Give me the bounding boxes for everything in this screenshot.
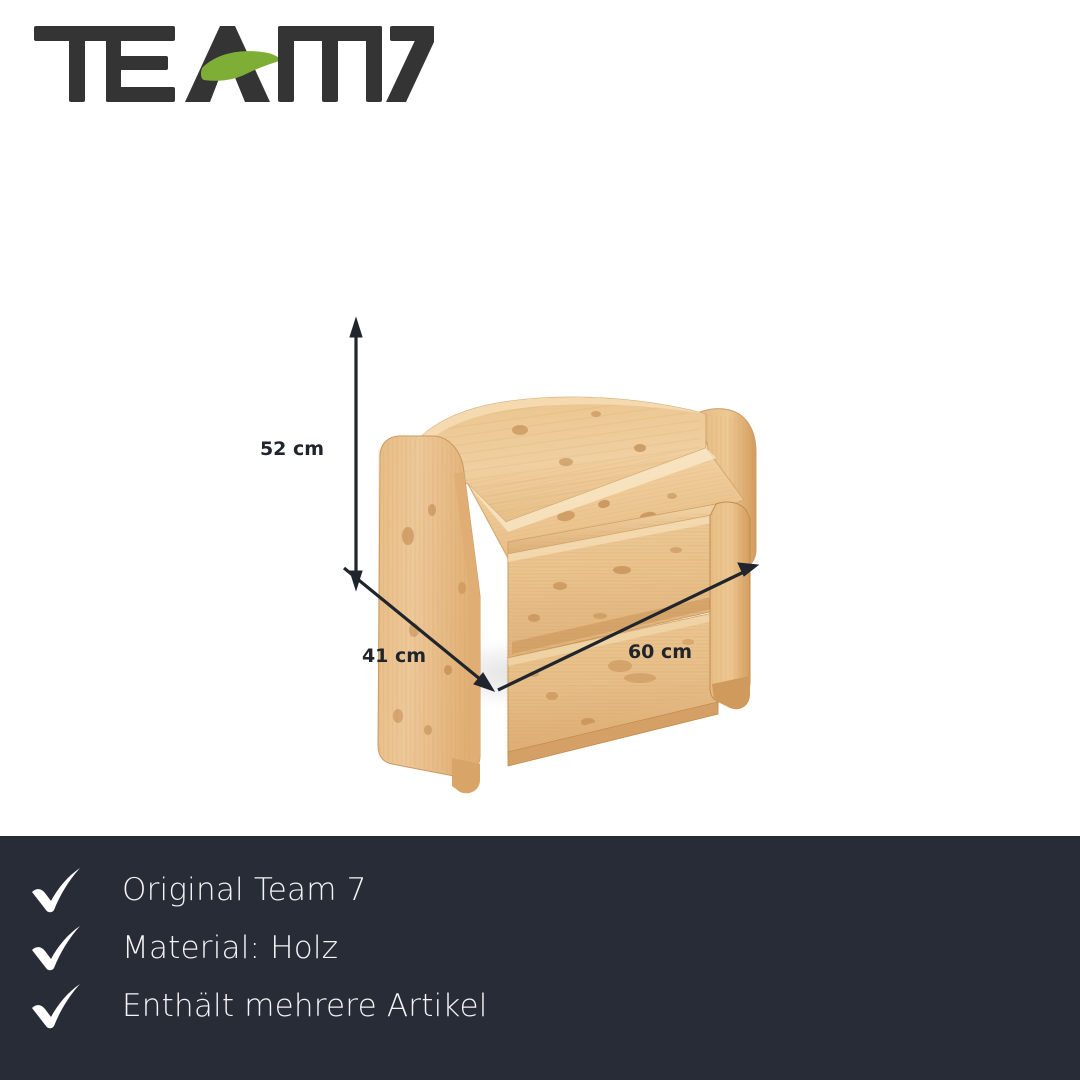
feature-label: Enthält mehrere Artikel — [122, 991, 488, 1022]
feature-label: Original Team 7 — [122, 875, 367, 906]
checkmark-icon — [28, 866, 84, 914]
product-listing-card: 52 cm 41 cm 60 cm Original Team 7 — [0, 0, 1080, 1080]
brand-logo — [34, 16, 434, 104]
feature-list: Original Team 7 Material: Holz Enthält m… — [0, 836, 1080, 1080]
list-item: Enthält mehrere Artikel — [0, 982, 1080, 1030]
height-dimension-label: 52 cm — [260, 438, 324, 460]
right-front-post-grain — [710, 502, 752, 702]
logo-letter-M — [278, 26, 382, 102]
product-illustration — [370, 388, 770, 793]
height-dimension-line — [350, 318, 362, 590]
checkmark-icon — [28, 982, 84, 1030]
logo-numeral-7 — [386, 26, 434, 102]
list-item: Original Team 7 — [0, 866, 1080, 914]
depth-dimension-label: 41 cm — [362, 645, 426, 667]
left-foot-notch — [452, 758, 480, 793]
list-item: Material: Holz — [0, 924, 1080, 972]
feature-footer: Original Team 7 Material: Holz Enthält m… — [0, 836, 1080, 1080]
logo-letter-E — [106, 26, 175, 102]
checkmark-icon — [28, 924, 84, 972]
product-photo-stage: 52 cm 41 cm 60 cm — [0, 118, 1080, 830]
width-dimension-label: 60 cm — [628, 641, 692, 663]
feature-label: Material: Holz — [122, 933, 338, 964]
